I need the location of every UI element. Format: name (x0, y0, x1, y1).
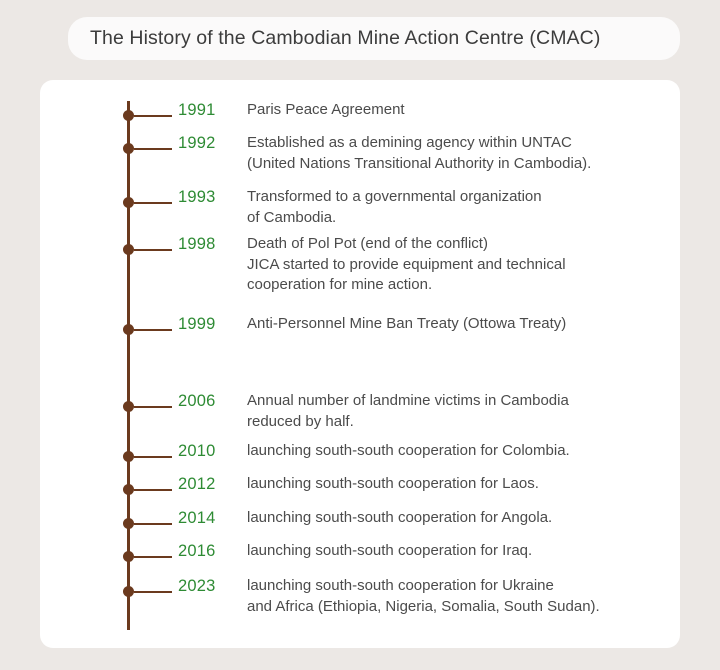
timeline-event-description: Anti-Personnel Mine Ban Treaty (Ottowa T… (247, 314, 672, 335)
timeline-connector-line (134, 523, 172, 525)
timeline-event-description: launching south-south cooperation for Ir… (247, 541, 672, 562)
timeline-event-year: 2014 (178, 509, 238, 528)
timeline-event-description-line: of Cambodia. (247, 208, 672, 229)
timeline-connector-line (134, 456, 172, 458)
timeline-connector-line (134, 148, 172, 150)
timeline-event-description-line: Paris Peace Agreement (247, 100, 672, 121)
timeline-connector-line (134, 115, 172, 117)
timeline-event-year: 2012 (178, 475, 238, 494)
timeline-card: 1991Paris Peace Agreement1992Established… (40, 80, 680, 648)
timeline-event-year: 1993 (178, 188, 238, 207)
timeline-event-year: 1991 (178, 101, 238, 120)
timeline-connector-line (134, 329, 172, 331)
page-title-bar: The History of the Cambodian Mine Action… (68, 17, 680, 60)
timeline-marker-dot-icon (123, 324, 134, 335)
timeline-event-description: launching south-south cooperation for Co… (247, 441, 672, 462)
timeline-connector-line (134, 202, 172, 204)
timeline-event-year: 1992 (178, 134, 238, 153)
timeline: 1991Paris Peace Agreement1992Established… (40, 80, 680, 648)
timeline-event-description-line: launching south-south cooperation for Ir… (247, 541, 672, 562)
timeline-marker-dot-icon (123, 451, 134, 462)
timeline-event-description: Paris Peace Agreement (247, 100, 672, 121)
timeline-event-year: 1998 (178, 235, 238, 254)
timeline-marker-dot-icon (123, 484, 134, 495)
timeline-event-year: 1999 (178, 315, 238, 334)
timeline-event-description-line: launching south-south cooperation for An… (247, 508, 672, 529)
timeline-connector-line (134, 249, 172, 251)
timeline-event-description-line: Anti-Personnel Mine Ban Treaty (Ottowa T… (247, 314, 672, 335)
timeline-marker-dot-icon (123, 143, 134, 154)
timeline-event-description: Annual number of landmine victims in Cam… (247, 391, 672, 432)
timeline-event-description: Transformed to a governmental organizati… (247, 187, 672, 228)
timeline-marker-dot-icon (123, 518, 134, 529)
timeline-connector-line (134, 556, 172, 558)
timeline-event-description-line: launching south-south cooperation for La… (247, 474, 672, 495)
timeline-event-description-line: Transformed to a governmental organizati… (247, 187, 672, 208)
timeline-marker-dot-icon (123, 244, 134, 255)
timeline-event-description: launching south-south cooperation for La… (247, 474, 672, 495)
timeline-event-description-line: Annual number of landmine victims in Cam… (247, 391, 672, 412)
timeline-event-year: 2010 (178, 442, 238, 461)
timeline-event-description-line: launching south-south cooperation for Uk… (247, 576, 672, 597)
timeline-event-description-line: cooperation for mine action. (247, 275, 672, 296)
timeline-event-description-line: launching south-south cooperation for Co… (247, 441, 672, 462)
timeline-event-description: Established as a demining agency within … (247, 133, 672, 174)
timeline-marker-dot-icon (123, 586, 134, 597)
timeline-event-description-line: Death of Pol Pot (end of the conflict) (247, 234, 672, 255)
timeline-marker-dot-icon (123, 197, 134, 208)
timeline-connector-line (134, 489, 172, 491)
timeline-connector-line (134, 591, 172, 593)
timeline-event-description-line: (United Nations Transitional Authority i… (247, 154, 672, 175)
timeline-event-description: launching south-south cooperation for Uk… (247, 576, 672, 617)
timeline-event-description-line: and Africa (Ethiopia, Nigeria, Somalia, … (247, 597, 672, 618)
timeline-marker-dot-icon (123, 110, 134, 121)
timeline-event-description-line: reduced by half. (247, 412, 672, 433)
timeline-event-year: 2023 (178, 577, 238, 596)
timeline-marker-dot-icon (123, 401, 134, 412)
timeline-marker-dot-icon (123, 551, 134, 562)
timeline-event-year: 2016 (178, 542, 238, 561)
timeline-event-description: Death of Pol Pot (end of the conflict)JI… (247, 234, 672, 296)
timeline-connector-line (134, 406, 172, 408)
timeline-event-description: launching south-south cooperation for An… (247, 508, 672, 529)
page-title: The History of the Cambodian Mine Action… (90, 27, 600, 50)
timeline-event-description-line: Established as a demining agency within … (247, 133, 672, 154)
timeline-event-description-line: JICA started to provide equipment and te… (247, 255, 672, 276)
timeline-event-year: 2006 (178, 392, 238, 411)
